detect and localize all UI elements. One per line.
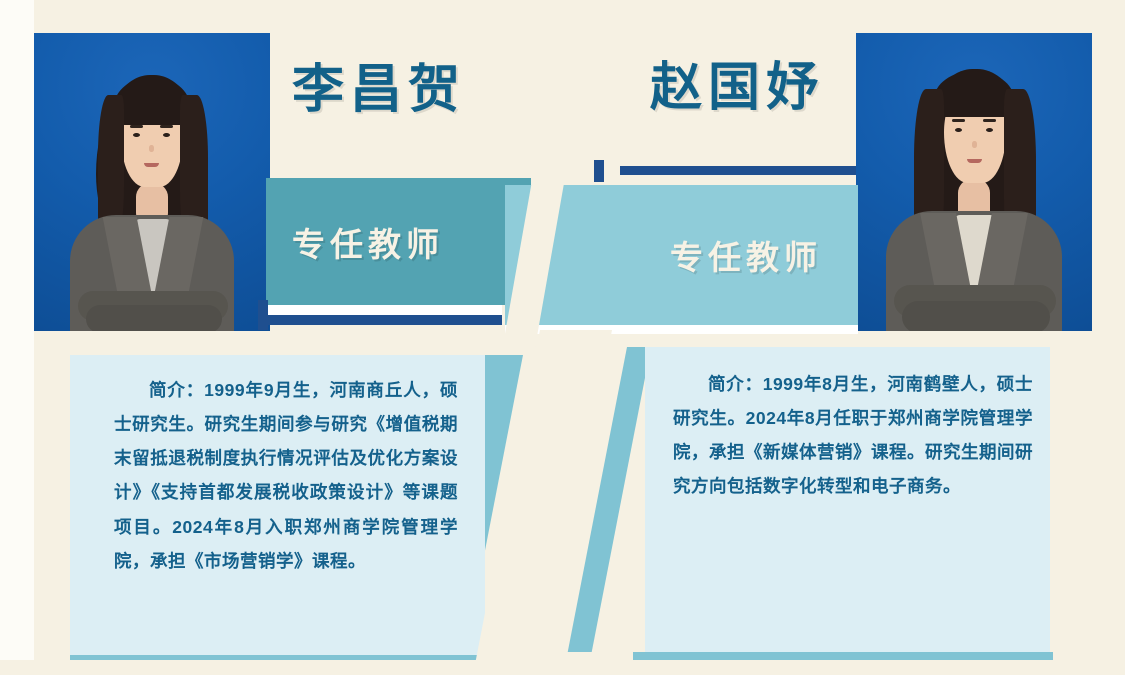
poster-canvas: 李昌贺 赵国妤 专任教师 专任教师 简介：1999年9月生，河南商丘人，硕士研究… <box>0 0 1125 675</box>
teacher-bio-text: 简介：1999年8月生，河南鹤壁人，硕士研究生。2024年8月任职于郑州商学院管… <box>673 367 1033 504</box>
navy-accent-bar-right <box>620 166 856 175</box>
teacher-bio-panel-right: 简介：1999年8月生，河南鹤壁人，硕士研究生。2024年8月任职于郑州商学院管… <box>645 347 1050 652</box>
background-left-strip <box>0 0 34 675</box>
teacher-bio-panel-left: 简介：1999年9月生，河南商丘人，硕士研究生。研究生期间参与研究《增值税期末留… <box>70 355 485 655</box>
teacher-name-left: 李昌贺 <box>292 64 466 116</box>
portrait-figure <box>34 33 270 331</box>
teacher-photo-right <box>856 33 1092 331</box>
teacher-bio-text: 简介：1999年9月生，河南商丘人，硕士研究生。研究生期间参与研究《增值税期末留… <box>114 373 458 578</box>
teacher-title-label: 专任教师 <box>670 231 822 279</box>
teacher-name-right: 赵国妤 <box>650 62 824 114</box>
teacher-title-label: 专任教师 <box>292 218 444 266</box>
footer-strip <box>0 660 1125 675</box>
teacher-title-badge-left: 专任教师 <box>266 178 531 305</box>
navy-accent-chip-right <box>594 160 604 182</box>
navy-accent-bar-left <box>266 315 502 325</box>
navy-accent-chip-left <box>258 300 268 330</box>
teacher-photo-left <box>34 33 270 331</box>
portrait-figure <box>856 33 1092 331</box>
